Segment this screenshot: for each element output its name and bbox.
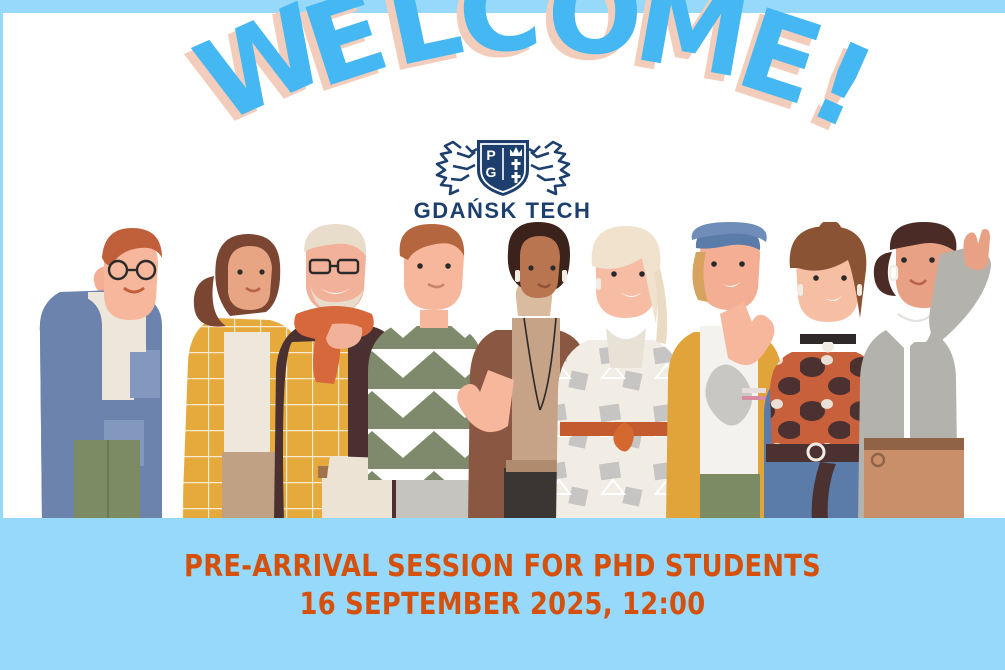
welcome-letter-shadow-5: M <box>619 0 752 110</box>
person-1 <box>40 228 162 522</box>
group-illustration <box>0 222 1005 522</box>
lion-right-icon <box>529 142 569 194</box>
caption-line-2: 16 SEPTEMBER 2025, 12:00 <box>70 586 934 624</box>
person-4 <box>368 224 484 522</box>
welcome-letter-shadow-3: C <box>446 0 540 87</box>
welcome-poster: W E L C O M E ! W E L C O M E ! <box>0 0 1005 670</box>
shield-letter-g: G <box>485 164 496 180</box>
lion-left-icon <box>437 142 477 194</box>
caption-line-1: PRE-ARRIVAL SESSION FOR PHD STUDENTS <box>70 548 934 586</box>
welcome-letter-6: E <box>724 0 838 132</box>
welcome-letter-shadow-2: L <box>369 0 467 98</box>
welcome-letter-5: M <box>626 0 759 104</box>
welcome-headline: W E L C O M E ! W E L C O M E ! <box>0 8 1005 148</box>
top-blue-band <box>0 0 1005 13</box>
welcome-letter-shadow-4: O <box>538 0 639 87</box>
welcome-letter-shadow-1: E <box>282 0 396 120</box>
shield-letter-p: P <box>486 147 495 163</box>
gdansk-tech-logo: P G GDAŃSK TECH <box>0 132 1005 222</box>
gdansk-tech-crest-icon: P G <box>427 132 579 198</box>
welcome-letter-1: E <box>289 0 403 114</box>
logo-wordmark: GDAŃSK TECH <box>0 200 1005 222</box>
welcome-letter-shadow-6: E <box>717 0 831 138</box>
welcome-letter-0: W <box>179 0 346 149</box>
event-caption: PRE-ARRIVAL SESSION FOR PHD STUDENTS 16 … <box>0 548 1005 625</box>
person-9 <box>858 222 991 522</box>
welcome-letter-2: L <box>376 0 474 92</box>
